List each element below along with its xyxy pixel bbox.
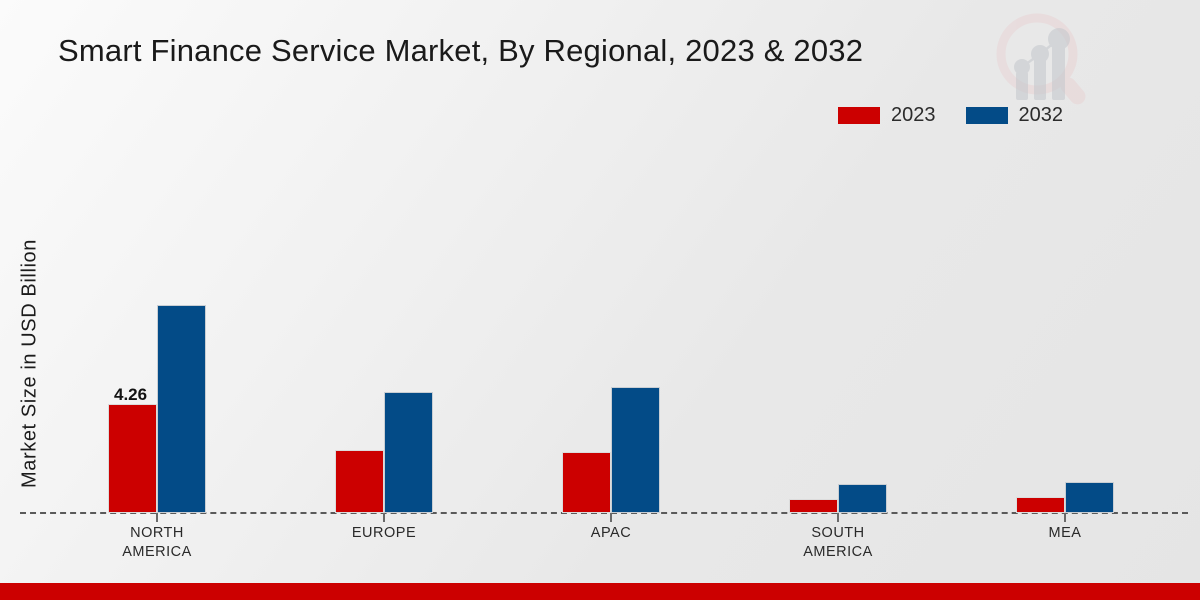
bar-south-america-2023[interactable] <box>789 499 838 513</box>
category-label-north-america: NORTH AMERICA <box>97 524 217 562</box>
bar-apac-2023[interactable] <box>562 452 611 513</box>
bar-mea-2023[interactable] <box>1016 497 1065 513</box>
bar-apac-2032[interactable] <box>611 387 660 513</box>
axis-tick-south-america <box>837 513 839 522</box>
axis-tick-mea <box>1064 513 1066 522</box>
bar-north-america-2023[interactable] <box>108 404 157 513</box>
bar-mea-2032[interactable] <box>1065 482 1114 513</box>
axis-tick-europe <box>383 513 385 522</box>
category-label-mea: MEA <box>1005 524 1125 543</box>
bar-north-america-2032[interactable] <box>157 305 206 513</box>
plot-area: 4.26 NORTH AMERICA EUROPE APAC SOUTH AME… <box>0 0 1200 600</box>
category-label-south-america: SOUTH AMERICA <box>778 524 898 562</box>
chart-container: Smart Finance Service Market, By Regiona… <box>0 0 1200 600</box>
bar-south-america-2032[interactable] <box>838 484 887 513</box>
category-label-europe: EUROPE <box>324 524 444 543</box>
bar-europe-2032[interactable] <box>384 392 433 513</box>
axis-tick-north-america <box>156 513 158 522</box>
bar-value-north-america-2023: 4.26 <box>114 385 147 405</box>
axis-tick-apac <box>610 513 612 522</box>
bar-europe-2023[interactable] <box>335 450 384 513</box>
footer-accent-bar <box>0 583 1200 600</box>
category-label-apac: APAC <box>551 524 671 543</box>
